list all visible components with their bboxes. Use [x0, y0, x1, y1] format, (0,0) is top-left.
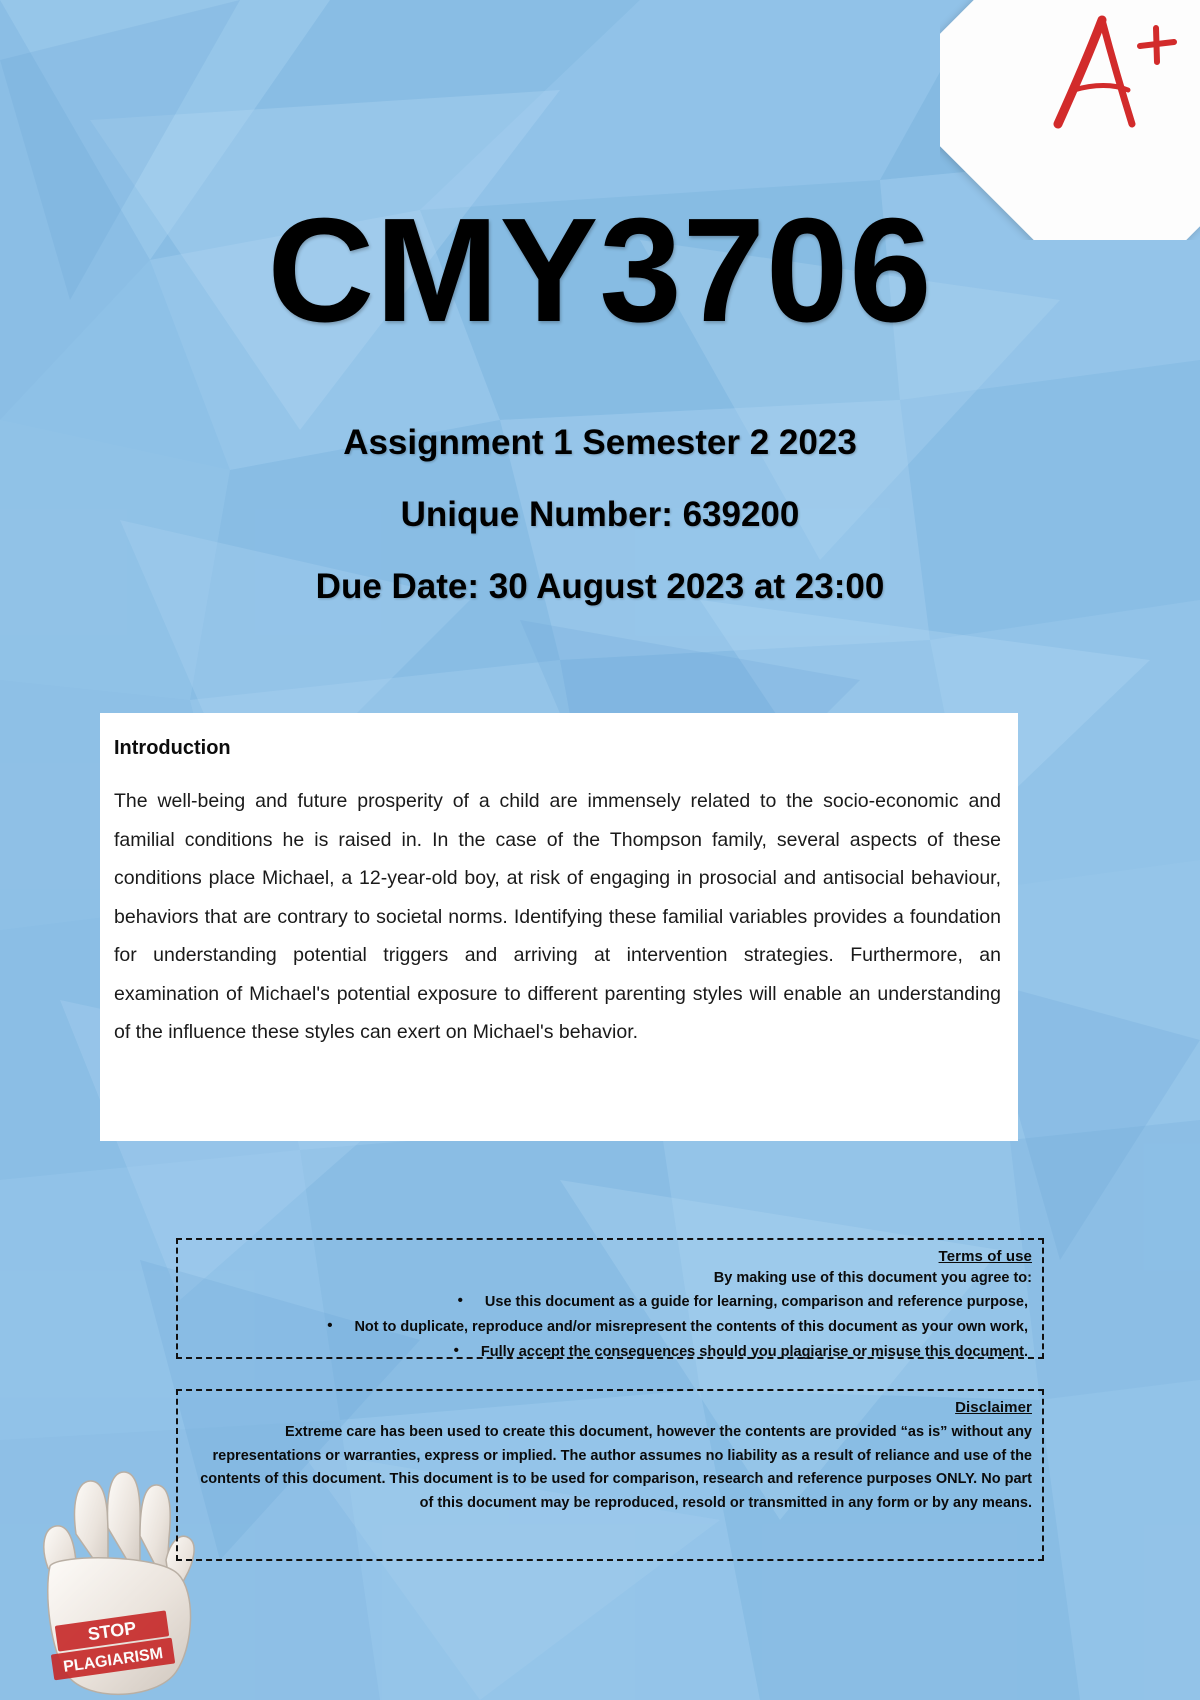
unique-number-line: Unique Number: 639200	[0, 497, 1200, 532]
assignment-line: Assignment 1 Semester 2 2023	[0, 425, 1200, 460]
due-date-line: Due Date: 30 August 2023 at 23:00	[0, 569, 1200, 604]
bullet-icon: •	[454, 1339, 459, 1362]
terms-item-text: Fully accept the consequences should you…	[481, 1344, 1028, 1360]
disclaimer-title: Disclaimer	[188, 1399, 1032, 1416]
a-plus-grade-icon	[1036, 6, 1186, 136]
list-item: •Use this document as a guide for learni…	[188, 1289, 1032, 1314]
terms-of-use-box: Terms of use By making use of this docum…	[176, 1238, 1044, 1359]
section-heading: Introduction	[114, 737, 1001, 760]
terms-list: •Use this document as a guide for learni…	[188, 1289, 1032, 1364]
disclaimer-text: Extreme care has been used to create thi…	[188, 1421, 1032, 1515]
content-card: Introduction The well-being and future p…	[100, 713, 1018, 1141]
cover-page: CMY3706 Assignment 1 Semester 2 2023 Uni…	[0, 0, 1200, 1700]
terms-lead: By making use of this document you agree…	[188, 1270, 1032, 1286]
title-block: CMY3706	[0, 196, 1200, 347]
terms-item-text: Use this document as a guide for learnin…	[485, 1294, 1028, 1310]
terms-title: Terms of use	[188, 1248, 1032, 1265]
list-item: •Not to duplicate, reproduce and/or misr…	[188, 1314, 1032, 1339]
subtitle-block: Assignment 1 Semester 2 2023 Unique Numb…	[0, 425, 1200, 604]
course-code: CMY3706	[0, 196, 1200, 347]
disclaimer-box: Disclaimer Extreme care has been used to…	[176, 1389, 1044, 1561]
terms-item-text: Not to duplicate, reproduce and/or misre…	[354, 1319, 1028, 1335]
bullet-icon: •	[458, 1289, 463, 1312]
introduction-paragraph: The well-being and future prosperity of …	[114, 782, 1001, 1052]
list-item: •Fully accept the consequences should yo…	[188, 1339, 1032, 1364]
bullet-icon: •	[327, 1314, 332, 1337]
